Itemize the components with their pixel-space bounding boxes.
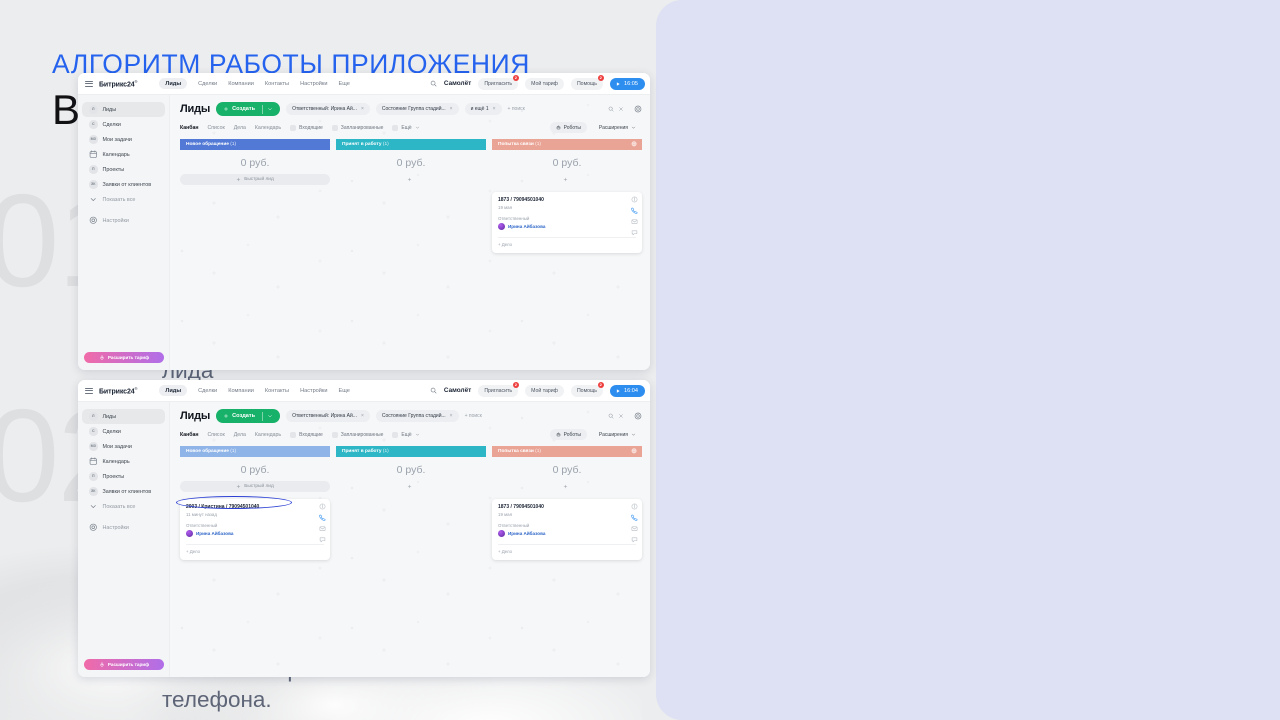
view-tab[interactable]: Календарь bbox=[255, 125, 281, 131]
lead-card[interactable]: 2003 / Кристина / 7909450104011 минут на… bbox=[180, 499, 330, 560]
lead-owner-name: Ирина Айбазова bbox=[508, 531, 545, 536]
activity-filter-label: Ещё bbox=[401, 125, 411, 131]
kanban-column: Принят в работу (1)0 руб. bbox=[336, 446, 486, 560]
lead-owner[interactable]: Ирина Айбазова bbox=[498, 530, 636, 537]
bitrix-logo-text: Битрикс24 bbox=[99, 81, 135, 88]
bitrix-main-area: ЛидыСоздатьОтветственный: Ирина Ай...×Со… bbox=[170, 95, 650, 370]
info-icon[interactable] bbox=[319, 503, 326, 510]
sidebar-item-3[interactable]: Календарь bbox=[82, 147, 165, 162]
plus-icon bbox=[236, 177, 241, 182]
activity-filter-label: Входящие bbox=[299, 432, 323, 438]
plus-icon bbox=[223, 106, 229, 112]
chevron-down-icon bbox=[415, 432, 420, 437]
sidebar-item-2[interactable]: МЗМои задачи bbox=[82, 132, 165, 147]
plus-icon[interactable]: ⊕ bbox=[631, 141, 637, 148]
notification-badge: 2 bbox=[513, 382, 520, 389]
view-tabs-bar: КанбанСписокДелаКалендарьВходящиеЗаплани… bbox=[170, 428, 650, 441]
topmenu-item[interactable]: Лиды bbox=[159, 385, 187, 396]
kanban-column: Новое обращение (1)0 руб.Быстрый лид2003… bbox=[180, 446, 330, 560]
info-icon[interactable] bbox=[631, 196, 638, 203]
kanban-column-count: (1) bbox=[535, 449, 541, 454]
view-tabs-bar: КанбанСписокДелаКалендарьВходящиеЗаплани… bbox=[170, 121, 650, 134]
bitrix-body: ЛЛидыССделкиМЗМои задачиКалендарьППроект… bbox=[78, 402, 650, 677]
plus-icon bbox=[563, 177, 568, 182]
search-input-icons bbox=[608, 106, 624, 112]
mail-icon[interactable] bbox=[631, 525, 638, 532]
rocket-icon bbox=[99, 355, 105, 361]
bitrix-logo[interactable]: Битрикс24® bbox=[99, 386, 137, 395]
chevron-down-icon bbox=[631, 432, 636, 437]
chat-icon[interactable] bbox=[631, 536, 638, 543]
robots-button[interactable]: Роботы bbox=[550, 122, 587, 133]
chat-icon[interactable] bbox=[319, 536, 326, 543]
sidebar-item-avatar: С bbox=[89, 120, 98, 129]
kanban-column-name: Попытка связи bbox=[498, 449, 534, 454]
extensions-button[interactable]: Расширения bbox=[593, 429, 642, 440]
chevron-down-icon bbox=[89, 195, 98, 204]
mail-icon[interactable] bbox=[631, 218, 638, 225]
bitrix-topbar: Битрикс24®ЛидыСделкиКомпанииКонтактыНаст… bbox=[78, 380, 650, 402]
kanban-column-count: (1) bbox=[383, 142, 389, 147]
plus-icon bbox=[407, 484, 412, 489]
kanban-column: Новое обращение (1)0 руб.Быстрый лид bbox=[180, 139, 330, 253]
plus-icon bbox=[563, 484, 568, 489]
topbar-pill[interactable]: Пригласить2 bbox=[478, 385, 518, 397]
sidebar-item-avatar: Л bbox=[89, 412, 98, 421]
gear-icon bbox=[89, 216, 98, 225]
topmenu-item[interactable]: Контакты bbox=[265, 81, 289, 87]
chevron-down-icon[interactable] bbox=[415, 432, 420, 437]
close-icon[interactable]: × bbox=[361, 413, 364, 419]
chevron-down-icon[interactable] bbox=[267, 413, 273, 419]
search-icon bbox=[430, 387, 437, 394]
add-lead-button[interactable] bbox=[336, 174, 486, 185]
plus-icon bbox=[223, 413, 229, 419]
sidebar-item-settings[interactable]: Настройки bbox=[82, 520, 165, 535]
lead-date: 19 мая bbox=[498, 205, 636, 210]
topmenu-item[interactable]: Настройки bbox=[300, 81, 327, 87]
activity-filter-label: Запланированные bbox=[341, 432, 384, 438]
kanban-column-sum: 0 руб. bbox=[336, 457, 486, 481]
right-visual-panel bbox=[642, 0, 1280, 720]
topmenu-item[interactable]: Настройки bbox=[300, 388, 327, 394]
sidebar-item-avatar: П bbox=[89, 472, 98, 481]
phone-icon[interactable] bbox=[319, 514, 326, 521]
filter-chip[interactable]: и ещё 1× bbox=[465, 103, 502, 115]
sidebar-item-avatar: С bbox=[89, 427, 98, 436]
rocket-icon bbox=[99, 355, 105, 361]
screenshot-lead-1: Битрикс24®ЛидыСделкиКомпанииКонтактыНаст… bbox=[78, 73, 650, 370]
hamburger-menu-icon[interactable] bbox=[85, 81, 93, 87]
kanban-column-count: (1) bbox=[535, 142, 541, 147]
search-icon[interactable] bbox=[608, 413, 614, 419]
play-icon bbox=[615, 81, 621, 87]
checkbox-icon bbox=[290, 125, 296, 131]
lead-owner-name: Ирина Айбазова bbox=[508, 224, 545, 229]
checkbox-icon bbox=[290, 432, 296, 438]
filter-chip[interactable]: Ответственный: Ирина Ай...× bbox=[286, 103, 370, 115]
view-tab[interactable]: Дела bbox=[234, 432, 246, 438]
company-name[interactable]: Самолёт bbox=[444, 387, 471, 394]
bitrix-topbar: Битрикс24®ЛидыСделкиКомпанииКонтактыНаст… bbox=[78, 73, 650, 95]
bitrix-sidebar: ЛЛидыССделкиМЗМои задачиКалендарьППроект… bbox=[78, 402, 170, 677]
chevron-down-icon bbox=[267, 413, 273, 419]
search-icon bbox=[608, 106, 614, 112]
sidebar-show-all[interactable]: Показать все bbox=[82, 499, 165, 514]
search-icon bbox=[430, 80, 437, 87]
kanban-column-header[interactable]: Принят в работу (1) bbox=[336, 139, 486, 150]
add-activity-link[interactable]: + Дело bbox=[186, 544, 324, 554]
chat-icon[interactable] bbox=[631, 229, 638, 236]
bitrix-logo-text: Битрикс24 bbox=[99, 388, 135, 395]
lead-date: 11 минут назад bbox=[186, 512, 324, 517]
activity-filter[interactable]: Входящие bbox=[290, 432, 323, 438]
chevron-down-icon[interactable] bbox=[415, 125, 420, 130]
sidebar-item-settings[interactable]: Настройки bbox=[82, 213, 165, 228]
worktime-button[interactable]: 16:05 bbox=[610, 78, 645, 90]
sidebar-item-0[interactable]: ЛЛиды bbox=[82, 102, 165, 117]
plus-icon bbox=[563, 177, 568, 182]
calendar-icon bbox=[89, 150, 98, 159]
topbar-pill-label: Пригласить bbox=[484, 388, 512, 394]
search-icon bbox=[608, 413, 614, 419]
topmenu-item[interactable]: Компании bbox=[228, 81, 254, 87]
activity-filter[interactable]: Входящие bbox=[290, 125, 323, 131]
topbar-pill[interactable]: Мой тариф bbox=[525, 385, 564, 397]
search-placeholder: + поиск bbox=[508, 106, 525, 112]
add-lead-label: Быстрый лид bbox=[244, 484, 274, 489]
mail-icon[interactable] bbox=[319, 525, 326, 532]
avatar bbox=[498, 223, 505, 230]
info-icon bbox=[631, 503, 638, 510]
info-icon bbox=[631, 196, 638, 203]
sidebar-show-all[interactable]: Показать все bbox=[82, 192, 165, 207]
close-icon[interactable]: × bbox=[450, 106, 453, 112]
sidebar-item-0[interactable]: ЛЛиды bbox=[82, 409, 165, 424]
chat-icon bbox=[631, 229, 638, 236]
expand-tariff-label: Расширить тариф bbox=[108, 662, 149, 667]
topbar-pill[interactable]: Помощь2 bbox=[571, 78, 603, 90]
sidebar-item-1[interactable]: ССделки bbox=[82, 117, 165, 132]
kanban-column-sum: 0 руб. bbox=[492, 457, 642, 481]
notification-badge: 2 bbox=[513, 75, 520, 82]
screenshot-lead-2: Битрикс24®ЛидыСделкиКомпанииКонтактыНаст… bbox=[78, 380, 650, 677]
kanban-column-sum: 0 руб. bbox=[180, 457, 330, 481]
add-lead-button[interactable]: Быстрый лид bbox=[180, 481, 330, 492]
topmenu-item[interactable]: Сделки bbox=[198, 388, 217, 394]
search-input-icons bbox=[608, 413, 624, 419]
kanban-column-name: Принят в работу bbox=[342, 142, 382, 147]
play-icon bbox=[615, 388, 621, 394]
plus-icon bbox=[563, 484, 568, 489]
view-tab[interactable]: Календарь bbox=[255, 432, 281, 438]
phone-icon[interactable] bbox=[631, 207, 638, 214]
sidebar-item-avatar: ЗК bbox=[89, 487, 98, 496]
plus-icon bbox=[407, 177, 412, 182]
view-tab[interactable]: Канбан bbox=[180, 432, 198, 438]
plus-icon bbox=[236, 484, 241, 489]
checkbox-icon bbox=[392, 432, 398, 438]
add-lead-button[interactable] bbox=[336, 481, 486, 492]
chevron-down-icon[interactable] bbox=[631, 125, 636, 130]
bitrix-main-area: ЛидыСоздатьОтветственный: Ирина Ай...×Со… bbox=[170, 402, 650, 677]
lead-owner-label: Ответственный bbox=[186, 523, 324, 528]
mail-icon bbox=[319, 525, 326, 532]
sidebar-item-4[interactable]: ППроекты bbox=[82, 469, 165, 484]
mail-icon bbox=[631, 218, 638, 225]
topbar-pill-label: Мой тариф bbox=[531, 388, 558, 394]
sidebar-item-5[interactable]: ЗКЗаявки от клиентов bbox=[82, 484, 165, 499]
phone-icon bbox=[319, 514, 326, 521]
kanban-column-sum: 0 руб. bbox=[336, 150, 486, 174]
leads-title: Лиды bbox=[180, 410, 210, 422]
chevron-down-icon bbox=[631, 125, 636, 130]
topmenu-item[interactable]: Еще bbox=[339, 388, 350, 394]
lead-owner[interactable]: Ирина Айбазова bbox=[498, 223, 636, 230]
right-panel-surface bbox=[656, 0, 1280, 720]
hamburger-menu-icon[interactable] bbox=[85, 388, 93, 394]
sidebar-item-avatar: П bbox=[89, 165, 98, 174]
kanban-column-name: Новое обращение bbox=[186, 142, 229, 147]
avatar bbox=[186, 530, 193, 537]
sidebar-item-2[interactable]: МЗМои задачи bbox=[82, 439, 165, 454]
plus-icon bbox=[236, 177, 241, 182]
rocket-icon bbox=[99, 662, 105, 668]
topmenu-item[interactable]: Контакты bbox=[265, 388, 289, 394]
notification-badge: 2 bbox=[598, 75, 605, 82]
search-placeholder: + поиск bbox=[465, 413, 482, 419]
kanban-column-header[interactable]: Новое обращение (1) bbox=[180, 139, 330, 150]
close-icon[interactable] bbox=[618, 413, 624, 419]
search-icon[interactable] bbox=[430, 387, 437, 394]
activity-filter[interactable]: Запланированные bbox=[332, 125, 384, 131]
kanban-column-header[interactable]: Попытка связи (1)⊕ bbox=[492, 446, 642, 457]
view-tabs-right: РоботыРасширения bbox=[550, 429, 642, 440]
kanban-column-sum: 0 руб. bbox=[180, 150, 330, 174]
view-tab[interactable]: Список bbox=[207, 125, 224, 131]
info-icon[interactable] bbox=[631, 503, 638, 510]
add-activity-link[interactable]: + Дело bbox=[498, 237, 636, 247]
filter-chip[interactable]: Состояние Группа стадий...× bbox=[376, 103, 459, 115]
kanban-column-header[interactable]: Попытка связи (1)⊕ bbox=[492, 139, 642, 150]
search-icon[interactable] bbox=[608, 106, 614, 112]
topmenu-item[interactable]: Сделки bbox=[198, 81, 217, 87]
topbar-pill-label: Мой тариф bbox=[531, 81, 558, 87]
filter-chip-label: и ещё 1 bbox=[471, 106, 489, 112]
kanban-column: Принят в работу (1)0 руб. bbox=[336, 139, 486, 253]
calendar-icon bbox=[89, 150, 98, 159]
lead-title: 2003 / Кристина / 79094501040 bbox=[186, 504, 324, 510]
sidebar-item-5[interactable]: ЗКЗаявки от клиентов bbox=[82, 177, 165, 192]
bitrix-main-menu: ЛидыСделкиКомпанииКонтактыНастройкиЕще bbox=[159, 78, 349, 89]
create-lead-button[interactable]: Создать bbox=[216, 102, 280, 116]
create-lead-label: Создать bbox=[232, 106, 255, 112]
checkbox-icon bbox=[332, 432, 338, 438]
sidebar-show-all-label: Показать все bbox=[103, 197, 136, 203]
phone-icon[interactable] bbox=[631, 514, 638, 521]
avatar bbox=[498, 530, 505, 537]
close-icon[interactable]: × bbox=[361, 106, 364, 112]
filter-chip-label: Ответственный: Ирина Ай... bbox=[292, 413, 357, 419]
kanban-column: Попытка связи (1)⊕0 руб.1873 / 790945010… bbox=[492, 446, 642, 560]
play-icon bbox=[615, 81, 621, 87]
filter-chip[interactable]: Ответственный: Ирина Ай...× bbox=[286, 410, 370, 422]
kanban-column-name: Новое обращение bbox=[186, 449, 229, 454]
robot-icon bbox=[556, 432, 561, 437]
chevron-down-icon bbox=[415, 125, 420, 130]
gear-icon[interactable] bbox=[634, 105, 642, 113]
lead-card[interactable]: 1873 / 7909450104019 маяОтветственныйИри… bbox=[492, 499, 642, 560]
phone-icon bbox=[631, 514, 638, 521]
bitrix-body: ЛЛидыССделкиМЗМои задачиКалендарьППроект… bbox=[78, 95, 650, 370]
kanban-column-sum: 0 руб. bbox=[492, 150, 642, 174]
topbar-pill-label: Помощь bbox=[577, 81, 597, 87]
lead-owner[interactable]: Ирина Айбазова bbox=[186, 530, 324, 537]
activity-filter[interactable]: Ещё bbox=[392, 432, 419, 438]
bitrix-topbar-right: СамолётПригласить2Мой тарифПомощь216:05 bbox=[430, 78, 645, 90]
lead-title: 1873 / 79094501040 bbox=[498, 197, 636, 203]
view-tab[interactable]: Канбан bbox=[180, 125, 198, 131]
topbar-pill[interactable]: Помощь2 bbox=[571, 385, 603, 397]
view-tabs-right: РоботыРасширения bbox=[550, 122, 642, 133]
sidebar-item-label: Лиды bbox=[103, 107, 117, 113]
sidebar-item-label: Сделки bbox=[103, 429, 121, 435]
sidebar-settings-label: Настройки bbox=[103, 525, 129, 531]
bitrix-logo[interactable]: Битрикс24® bbox=[99, 79, 137, 88]
bitrix-logo-mark: ® bbox=[135, 79, 138, 84]
search-input[interactable]: + поиск bbox=[465, 410, 628, 422]
view-tab[interactable]: Список bbox=[207, 432, 224, 438]
add-lead-button[interactable] bbox=[492, 174, 642, 185]
chat-icon bbox=[319, 536, 326, 543]
lead-owner-label: Ответственный bbox=[498, 216, 636, 221]
extensions-button[interactable]: Расширения bbox=[593, 122, 642, 133]
expand-tariff-button[interactable]: Расширить тариф bbox=[84, 659, 164, 670]
leads-header: ЛидыСоздатьОтветственный: Ирина Ай...×Со… bbox=[170, 95, 650, 121]
sidebar-item-3[interactable]: Календарь bbox=[82, 454, 165, 469]
plus-icon[interactable]: ⊕ bbox=[631, 448, 637, 455]
close-icon[interactable] bbox=[618, 106, 624, 112]
worktime-value: 16:05 bbox=[624, 81, 638, 87]
gear-icon bbox=[89, 523, 98, 532]
sidebar-item-label: Календарь bbox=[103, 459, 130, 465]
chat-icon bbox=[631, 536, 638, 543]
activity-filter[interactable]: Запланированные bbox=[332, 432, 384, 438]
activity-filter-label: Ещё bbox=[401, 432, 411, 438]
bitrix-logo-mark: ® bbox=[135, 386, 138, 391]
sidebar-item-avatar: МЗ bbox=[89, 135, 98, 144]
worktime-value: 16:04 bbox=[624, 388, 638, 394]
filter-chip[interactable]: Состояние Группа стадий...× bbox=[376, 410, 459, 422]
company-name[interactable]: Самолёт bbox=[444, 80, 471, 87]
add-lead-button[interactable]: Быстрый лид bbox=[180, 174, 330, 185]
gear-icon bbox=[634, 105, 642, 113]
topbar-pill[interactable]: Пригласить2 bbox=[478, 78, 518, 90]
activity-filter[interactable]: Ещё bbox=[392, 125, 419, 131]
add-activity-link[interactable]: + Дело bbox=[498, 544, 636, 554]
checkbox-icon bbox=[392, 125, 398, 131]
plus-icon bbox=[407, 484, 412, 489]
sidebar-item-label: Заявки от клиентов bbox=[103, 489, 152, 495]
chevron-down-icon[interactable] bbox=[267, 106, 273, 112]
sidebar-item-4[interactable]: ППроекты bbox=[82, 162, 165, 177]
topmenu-item[interactable]: Лиды bbox=[159, 78, 187, 89]
chevron-down-icon bbox=[89, 502, 98, 511]
kanban-column-name: Попытка связи bbox=[498, 142, 534, 147]
bitrix-topbar-right: СамолётПригласить2Мой тарифПомощь216:04 bbox=[430, 385, 645, 397]
plus-icon bbox=[236, 484, 241, 489]
activity-filter-label: Запланированные bbox=[341, 125, 384, 131]
sidebar-item-label: Проекты bbox=[103, 167, 125, 173]
search-input[interactable]: + поиск bbox=[508, 103, 628, 115]
sidebar-settings-label: Настройки bbox=[103, 218, 129, 224]
gear-icon[interactable] bbox=[634, 412, 642, 420]
sidebar-item-label: Мои задачи bbox=[103, 444, 132, 450]
sidebar-item-label: Проекты bbox=[103, 474, 125, 480]
kanban-column: Попытка связи (1)⊕0 руб.1873 / 790945010… bbox=[492, 139, 642, 253]
kanban-column-count: (1) bbox=[230, 142, 236, 147]
gear-icon bbox=[89, 216, 98, 225]
calendar-icon bbox=[89, 457, 98, 466]
lead-owner-label: Ответственный bbox=[498, 523, 636, 528]
close-icon[interactable]: × bbox=[450, 413, 453, 419]
kanban-column-header[interactable]: Принят в работу (1) bbox=[336, 446, 486, 457]
chevron-down-icon bbox=[89, 195, 98, 204]
lead-owner-name: Ирина Айбазова bbox=[196, 531, 233, 536]
search-icon[interactable] bbox=[430, 80, 437, 87]
sidebar-item-label: Лиды bbox=[103, 414, 117, 420]
sidebar-item-avatar: Л bbox=[89, 105, 98, 114]
expand-tariff-label: Расширить тариф bbox=[108, 355, 149, 360]
sidebar-item-1[interactable]: ССделки bbox=[82, 424, 165, 439]
bitrix-main-menu: ЛидыСделкиКомпанииКонтактыНастройкиЕще bbox=[159, 385, 349, 396]
add-lead-button[interactable] bbox=[492, 481, 642, 492]
sidebar-item-avatar: МЗ bbox=[89, 442, 98, 451]
worktime-button[interactable]: 16:04 bbox=[610, 385, 645, 397]
topmenu-item[interactable]: Еще bbox=[339, 81, 350, 87]
view-tab[interactable]: Дела bbox=[234, 125, 246, 131]
chevron-down-icon[interactable] bbox=[631, 432, 636, 437]
leads-header: ЛидыСоздатьОтветственный: Ирина Ай...×Со… bbox=[170, 402, 650, 428]
gear-icon bbox=[89, 523, 98, 532]
sidebar-item-avatar: ЗК bbox=[89, 180, 98, 189]
robot-icon bbox=[556, 125, 561, 130]
create-lead-button[interactable]: Создать bbox=[216, 409, 280, 423]
lead-card-actions bbox=[631, 503, 638, 543]
close-icon[interactable]: × bbox=[493, 106, 496, 112]
chevron-down-icon bbox=[89, 502, 98, 511]
mail-icon bbox=[631, 525, 638, 532]
plus-icon bbox=[407, 177, 412, 182]
close-icon bbox=[618, 106, 624, 112]
lead-card[interactable]: 1873 / 7909450104019 маяОтветственныйИри… bbox=[492, 192, 642, 253]
robots-button[interactable]: Роботы bbox=[550, 429, 587, 440]
kanban-board: Новое обращение (1)0 руб.Быстрый лидПрин… bbox=[170, 134, 650, 253]
kanban-column-name: Принят в работу bbox=[342, 449, 382, 454]
bitrix-sidebar: ЛЛидыССделкиМЗМои задачиКалендарьППроект… bbox=[78, 95, 170, 370]
filter-chip-label: Ответственный: Ирина Ай... bbox=[292, 106, 357, 112]
sidebar-item-label: Мои задачи bbox=[103, 137, 132, 143]
lead-date: 19 мая bbox=[498, 512, 636, 517]
topmenu-item[interactable]: Компании bbox=[228, 388, 254, 394]
expand-tariff-button[interactable]: Расширить тариф bbox=[84, 352, 164, 363]
kanban-column-header[interactable]: Новое обращение (1) bbox=[180, 446, 330, 457]
leads-title: Лиды bbox=[180, 103, 210, 115]
close-icon bbox=[618, 413, 624, 419]
lead-card-actions bbox=[631, 196, 638, 236]
chevron-down-icon bbox=[267, 106, 273, 112]
topbar-pill[interactable]: Мой тариф bbox=[525, 78, 564, 90]
